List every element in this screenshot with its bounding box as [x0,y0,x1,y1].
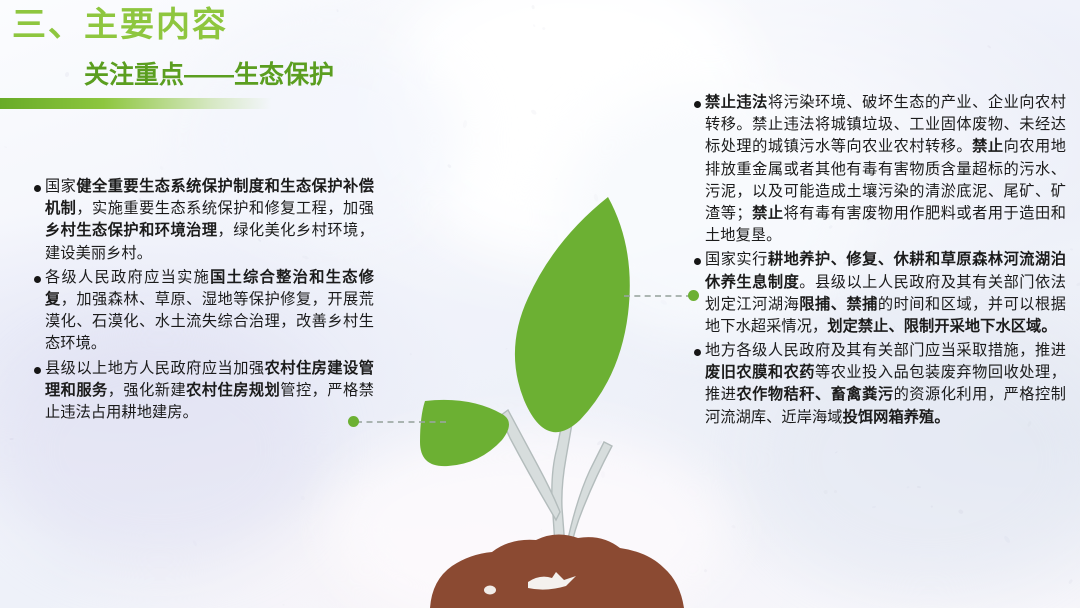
slide-canvas: 三、主要内容 关注重点——生态保护 国家健全重要生态系统保护制度和生态保护补偿机… [0,0,1080,608]
bullet-text: 国家实行耕地养护、修复、休耕和草原森林河流湖泊休养生息制度。县级以上人民政府及其… [705,249,1066,338]
emphasis-text: 禁止违法 [705,94,768,111]
body-text: 国家实行 [705,251,768,268]
page-title: 三、主要内容 [12,4,228,47]
bullet-dot-icon [694,258,701,265]
body-text: ，强化新建 [108,382,186,399]
bullet-dot-icon [34,367,41,374]
bullet-dot-icon [34,185,41,192]
body-text: ，加强森林、草原、湿地等保护修复，开展荒漠化、石漠化、水土流失综合治理，改善乡村… [45,291,374,352]
bullet-text: 各级人民政府应当实施国土综合整治和生态修复，加强森林、草原、湿地等保护修复，开展… [45,267,374,356]
emphasis-text: 禁止 [752,205,784,222]
bullet-item: 国家实行耕地养护、修复、休耕和草原森林河流湖泊休养生息制度。县级以上人民政府及其… [694,249,1066,338]
bullet-text: 地方各级人民政府及其有关部门应当采取措施，推进废旧农膜和农药等农业投入品包装废弃… [705,340,1066,429]
page-subtitle: 关注重点——生态保护 [84,55,334,91]
bullet-item: 地方各级人民政府及其有关部门应当采取措施，推进废旧农膜和农药等农业投入品包装废弃… [694,340,1066,429]
emphasis-text: 乡村生态保护和环境治理 [45,222,218,239]
emphasis-text: 限捕、禁捕 [799,296,878,313]
bullet-item: 县级以上地方人民政府应当加强农村住房建设管理和服务，强化新建农村住房规划管控，严… [34,358,374,425]
emphasis-text: 废旧农膜和农药 [705,364,815,381]
body-text: 地方各级人民政府及其有关部门应当采取措施，推进 [705,342,1066,359]
right-text-column: 禁止违法将污染环境、破坏生态的产业、企业向农村转移。禁止违法将城镇垃圾、工业固体… [694,92,1066,431]
title-underline-bar [0,98,272,109]
emphasis-text: 投饵网箱养殖。 [843,409,950,426]
body-text: ，实施重要生态系统保护和修复工程，加强 [76,200,374,217]
body-text: 县级以上地方人民政府应当加强 [45,360,265,377]
bullet-dot-icon [34,276,41,283]
body-text: 国家 [45,178,76,195]
bullet-item: 国家健全重要生态系统保护制度和生态保护补偿机制，实施重要生态系统保护和修复工程，… [34,176,374,265]
left-text-column: 国家健全重要生态系统保护制度和生态保护补偿机制，实施重要生态系统保护和修复工程，… [34,176,374,426]
bullet-item: 禁止违法将污染环境、破坏生态的产业、企业向农村转移。禁止违法将城镇垃圾、工业固体… [694,92,1066,247]
body-text: 各级人民政府应当实施 [45,269,210,286]
bullet-item: 各级人民政府应当实施国土综合整治和生态修复，加强森林、草原、湿地等保护修复，开展… [34,267,374,356]
emphasis-text: 农作物秸秆、畜禽粪污 [736,386,893,403]
emphasis-text: 农村住房规划 [186,382,280,399]
bullet-dot-icon [694,349,701,356]
bullet-text: 县级以上地方人民政府应当加强农村住房建设管理和服务，强化新建农村住房规划管控，严… [45,358,374,425]
emphasis-text: 禁止 [972,138,1003,155]
connector-line-right [624,295,692,297]
bullet-text: 禁止违法将污染环境、破坏生态的产业、企业向农村转移。禁止违法将城镇垃圾、工业固体… [705,92,1066,247]
bullet-text: 国家健全重要生态系统保护制度和生态保护补偿机制，实施重要生态系统保护和修复工程，… [45,176,374,265]
bullet-dot-icon [694,101,701,108]
emphasis-text: 划定禁止、限制开采地下水区域。 [827,318,1056,335]
